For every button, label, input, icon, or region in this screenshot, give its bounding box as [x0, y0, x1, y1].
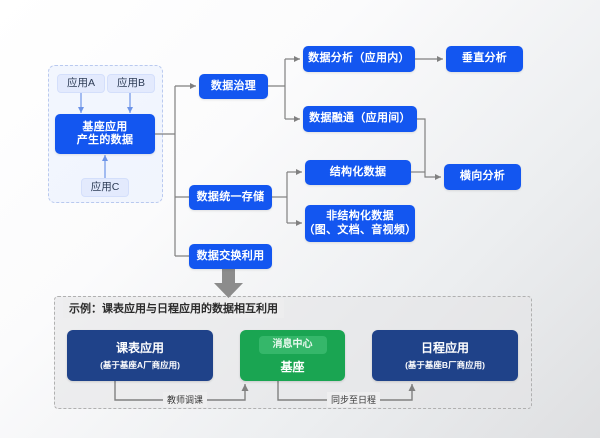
node-data-exchange-use[interactable]: 数据交换利用: [189, 244, 272, 269]
node-calendar-app-name: 日程应用: [421, 341, 469, 355]
message-center-badge[interactable]: 消息中心: [259, 336, 327, 354]
node-schedule-app[interactable]: 课表应用 (基于基座A厂商应用): [67, 330, 213, 381]
arrow-down-to-example: [214, 269, 243, 298]
node-unstructured-data-line-1: 非结构化数据: [326, 210, 394, 223]
example-panel-title: 示例：课表应用与日程应用的数据相互利用: [63, 298, 284, 318]
node-data-governance[interactable]: 数据治理: [199, 74, 268, 99]
diagram-canvas: 应用A 应用B 基座应用 产生的数据 应用C 数据治理 数据统一存储 数据交换利…: [0, 0, 600, 438]
edge-storage-branch: [272, 172, 302, 223]
node-analysis-in-app-label: 数据分析（应用内）: [308, 52, 410, 65]
node-app-b-label: 应用B: [117, 77, 145, 90]
edge-governance-branch: [268, 59, 300, 119]
node-fusion-between-apps[interactable]: 数据融通（应用间）: [303, 106, 417, 132]
node-schedule-app-sub: (基于基座A厂商应用): [100, 360, 180, 370]
node-unified-storage-label: 数据统一存储: [197, 191, 265, 204]
node-unstructured-data[interactable]: 非结构化数据 （图、文档、音视频）: [305, 205, 415, 242]
node-schedule-app-name: 课表应用: [116, 341, 164, 355]
node-app-b[interactable]: 应用B: [107, 74, 155, 93]
node-analysis-in-app[interactable]: 数据分析（应用内）: [303, 46, 415, 72]
node-fusion-between-apps-label: 数据融通（应用间）: [309, 112, 411, 125]
node-unstructured-data-line-2: （图、文档、音视频）: [304, 224, 417, 237]
node-app-c[interactable]: 应用C: [81, 178, 129, 197]
node-app-c-label: 应用C: [91, 181, 120, 194]
node-app-a-label: 应用A: [67, 77, 95, 90]
node-vertical-analysis-label: 垂直分析: [462, 52, 507, 65]
node-horizontal-analysis-label: 横向分析: [460, 170, 505, 183]
node-data-exchange-use-label: 数据交换利用: [197, 250, 265, 263]
node-vertical-analysis[interactable]: 垂直分析: [446, 46, 523, 72]
node-horizontal-analysis[interactable]: 横向分析: [444, 164, 521, 190]
node-calendar-app-sub: (基于基座B厂商应用): [405, 360, 485, 370]
edge-label-sync-to-calendar: 同步至日程: [327, 392, 380, 407]
node-base-platform[interactable]: 消息中心 基座: [240, 330, 345, 381]
node-app-a[interactable]: 应用A: [57, 74, 105, 93]
node-structured-data-label: 结构化数据: [330, 166, 387, 179]
platform-data-line-2: 产生的数据: [77, 134, 134, 147]
node-structured-data[interactable]: 结构化数据: [305, 160, 411, 185]
node-calendar-app[interactable]: 日程应用 (基于基座B厂商应用): [372, 330, 518, 381]
platform-data-line-1: 基座应用: [82, 121, 127, 134]
node-unified-storage[interactable]: 数据统一存储: [189, 185, 272, 210]
edge-fusion-to-horizontal: [417, 119, 441, 177]
node-base-platform-name: 基座: [280, 360, 304, 374]
edge-label-teacher-reschedule: 教师调课: [163, 392, 207, 407]
node-platform-generated-data[interactable]: 基座应用 产生的数据: [55, 114, 155, 154]
node-data-governance-label: 数据治理: [211, 80, 256, 93]
